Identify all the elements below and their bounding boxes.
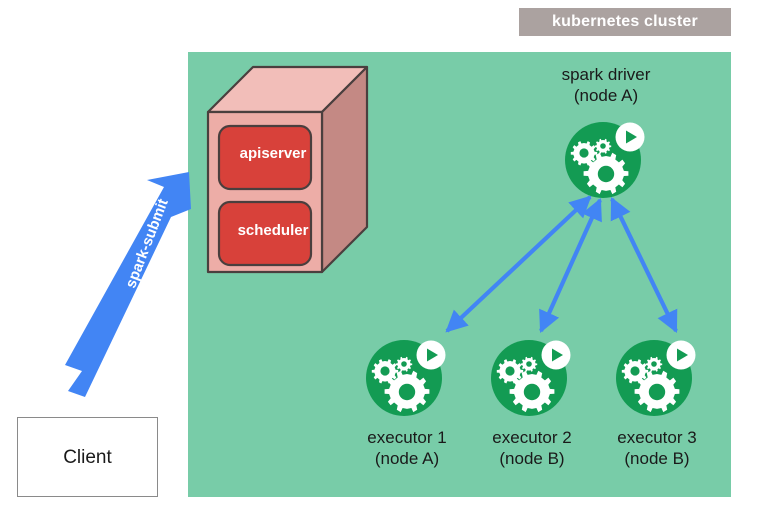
play-button-icon: [417, 341, 446, 370]
gear-medium-hole: [505, 366, 514, 375]
gear-large-hole: [399, 384, 415, 400]
play-button-icon: [542, 341, 571, 370]
gear-medium-hole: [630, 366, 639, 375]
executor-3-node: [612, 330, 702, 420]
spark-driver-caption: spark driver (node A): [526, 64, 686, 107]
gear-small-hole: [526, 361, 532, 367]
gear-large-hole: [524, 384, 540, 400]
control-plane-cube: apiserver scheduler: [205, 62, 370, 277]
executor-3-caption: executor 3 (node B): [577, 427, 737, 470]
spark-driver-node: [561, 112, 651, 202]
gear-medium-hole: [579, 148, 588, 157]
client-box: Client: [17, 417, 158, 497]
executor-1-node: [362, 330, 452, 420]
cluster-title-badge: kubernetes cluster: [519, 8, 731, 36]
gear-large-hole: [649, 384, 665, 400]
client-label: Client: [63, 448, 112, 467]
gear-medium-hole: [380, 366, 389, 375]
executor-2-node: [487, 330, 577, 420]
gear-small-hole: [651, 361, 657, 367]
diagram-canvas: kubernetes cluster apiserver scheduler: [0, 0, 761, 516]
gear-small-hole: [401, 361, 407, 367]
play-button-icon: [667, 341, 696, 370]
cluster-title-label: kubernetes cluster: [552, 14, 698, 30]
gear-small-hole: [600, 143, 606, 149]
play-button-icon: [616, 123, 645, 152]
gear-large-hole: [598, 166, 614, 182]
